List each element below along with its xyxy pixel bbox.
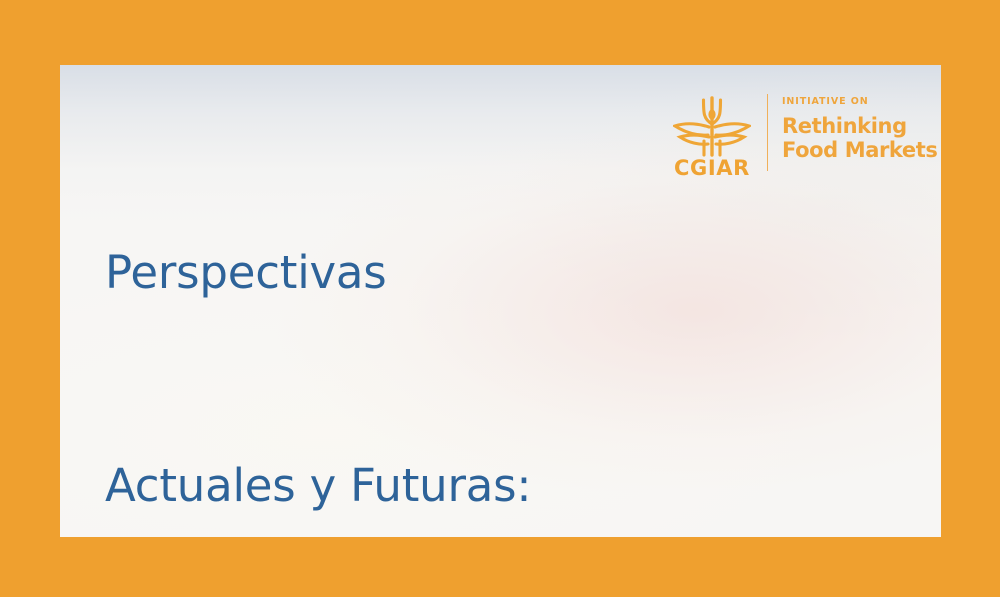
logo-divider: [767, 94, 768, 171]
initiative-name: Rethinking Food Markets: [782, 114, 938, 162]
title-card: Perspectivas Actuales y Futuras: Innovac…: [60, 65, 941, 537]
cgiar-wordmark: CGIAR: [674, 158, 750, 179]
cgiar-logo-mark: CGIAR: [669, 91, 755, 179]
cgiar-wheat-wings-emblem: [673, 91, 751, 157]
initiative-lockup-text: INITIATIVE ON Rethinking Food Markets: [782, 91, 938, 162]
slide-canvas: Perspectivas Actuales y Futuras: Innovac…: [0, 0, 1000, 597]
initiative-name-line-2: Food Markets: [782, 138, 938, 162]
cgiar-initiative-logo: CGIAR INITIATIVE ON Rethinking Food Mark…: [669, 91, 938, 179]
title-line-2: Actuales y Futuras:: [105, 450, 905, 521]
title-line-1: Perspectivas: [105, 237, 905, 308]
initiative-name-line-1: Rethinking: [782, 114, 938, 138]
initiative-eyebrow: INITIATIVE ON: [782, 97, 938, 107]
